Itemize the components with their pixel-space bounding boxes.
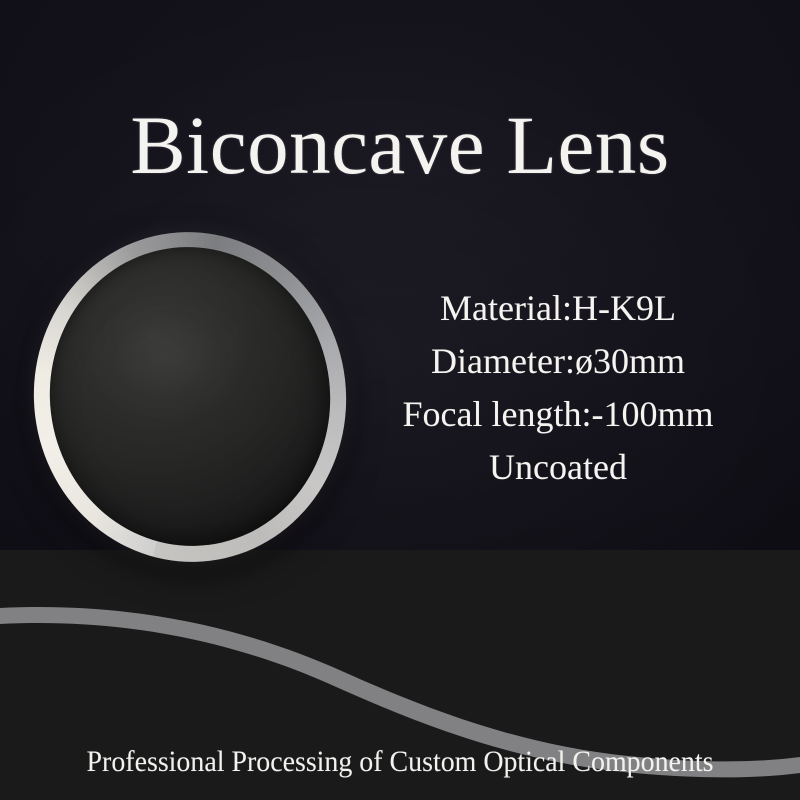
product-banner: Biconcave Lens Material:H-K9L Diameter:ø…	[0, 0, 800, 800]
spec-focal-length: Focal length:-100mm	[358, 388, 758, 441]
spec-material: Material:H-K9L	[358, 282, 758, 335]
page-title: Biconcave Lens	[0, 104, 800, 187]
spec-diameter: Diameter:ø30mm	[358, 335, 758, 388]
lens-photo	[34, 232, 346, 562]
lens-bevel-highlight	[27, 227, 353, 568]
footer-tagline: Professional Processing of Custom Optica…	[28, 745, 772, 778]
spec-coating: Uncoated	[358, 441, 758, 494]
spec-list: Material:H-K9L Diameter:ø30mm Focal leng…	[358, 282, 758, 494]
